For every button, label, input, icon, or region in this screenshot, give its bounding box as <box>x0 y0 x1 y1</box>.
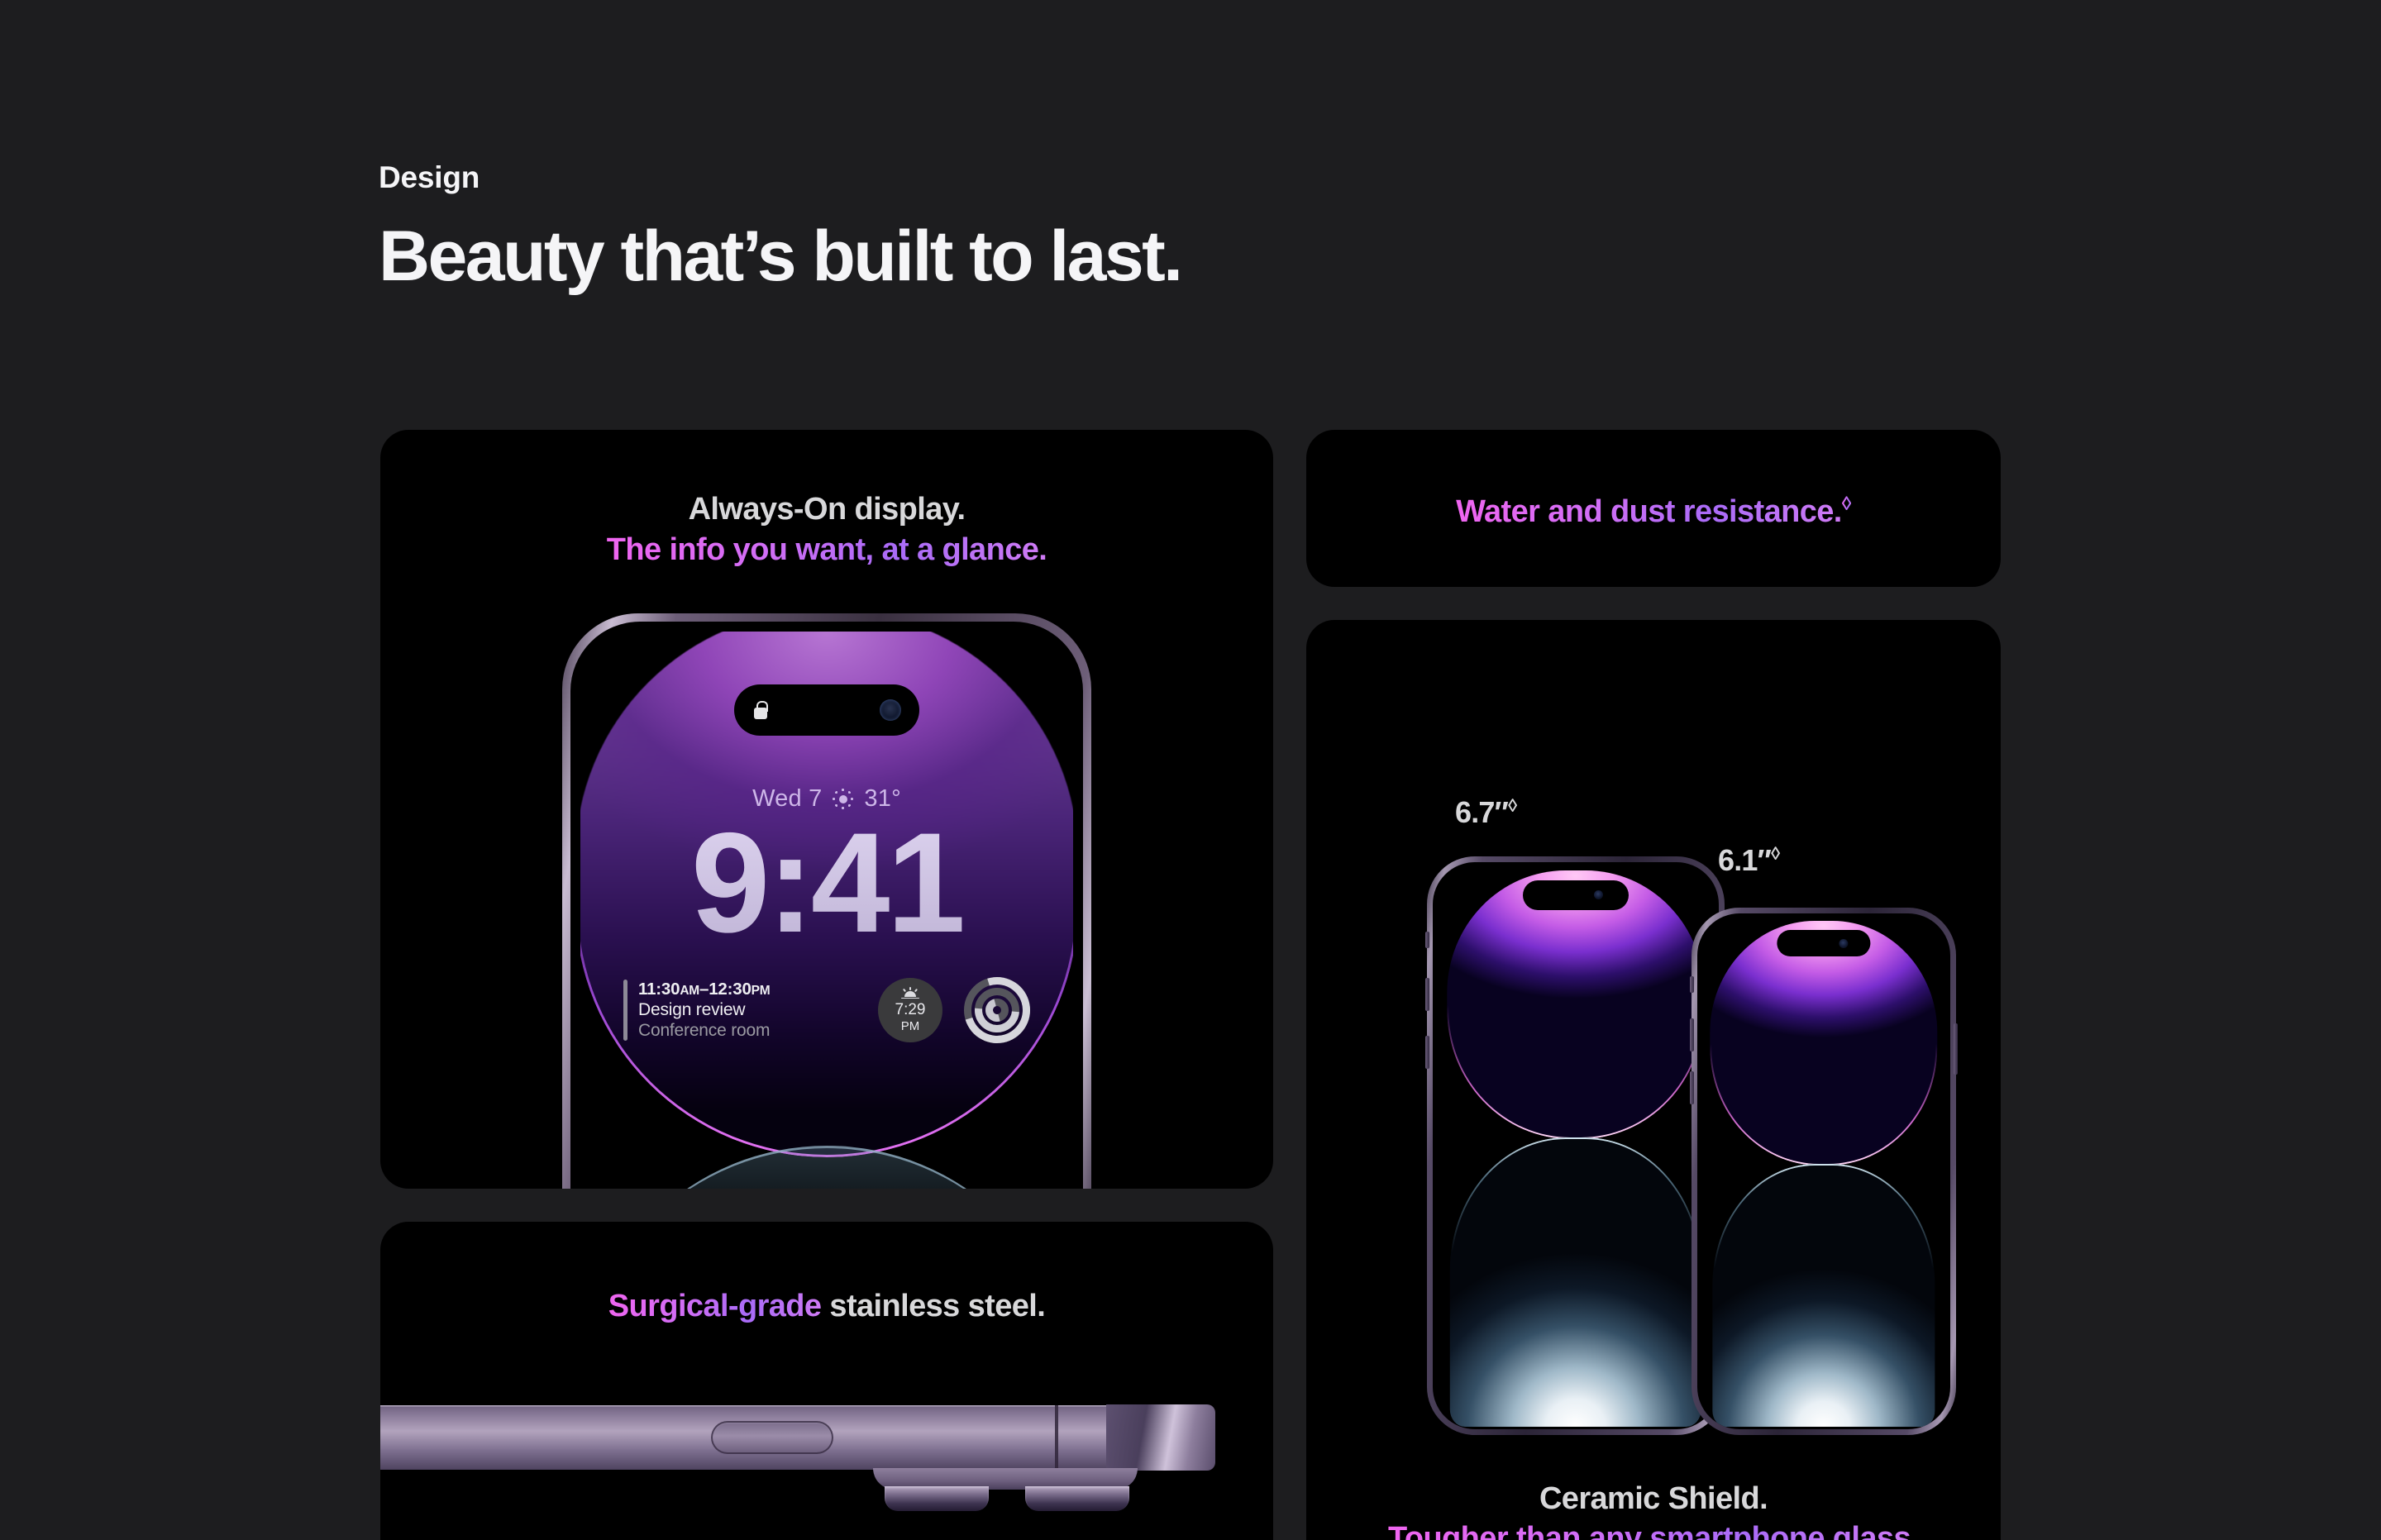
ceramic-shield-caption-line2: Tougher than any smartphone glass. <box>1388 1519 1919 1540</box>
iphone-67-inch-mockup <box>1427 856 1725 1435</box>
stainless-steel-caption: Surgical-grade stainless steel. <box>380 1286 1273 1327</box>
event-title: Design review <box>638 1000 771 1020</box>
band-end-cap <box>1106 1404 1215 1471</box>
phone-bezel: Wed 7 31° 9:41 11:30AM–12:30PM Design re… <box>570 622 1083 1189</box>
water-dust-caption-text: Water and dust resistance. <box>1456 492 1842 532</box>
wallpaper-reflection-rim <box>1712 1164 1935 1427</box>
activity-rings-icon[interactable] <box>964 977 1030 1043</box>
stainless-steel-caption-rest: stainless steel. <box>821 1289 1045 1323</box>
always-on-caption-line2: The info you want, at a glance. <box>607 530 1047 570</box>
footnote-marker: ◊ <box>1508 795 1516 816</box>
sunset-time: 7:29 <box>895 1002 926 1018</box>
camera-lens <box>1025 1486 1129 1511</box>
mute-switch <box>1425 932 1429 948</box>
event-time-start: 11:30 <box>638 980 680 999</box>
volume-down-button <box>1425 1036 1429 1069</box>
ceramic-shield-caption: Ceramic Shield. Tougher than any smartph… <box>1306 1479 2001 1540</box>
section-header: Design Beauty that’s built to last. <box>379 161 1181 293</box>
front-camera-icon <box>1839 939 1848 948</box>
wallpaper-dome-rim <box>1710 921 1937 1166</box>
page-title: Beauty that’s built to last. <box>379 220 1181 293</box>
always-on-caption: Always-On display. The info you want, at… <box>380 489 1273 570</box>
dynamic-island <box>1523 880 1629 910</box>
event-location: Conference room <box>638 1021 771 1041</box>
volume-button <box>711 1421 833 1454</box>
sunset-meridiem: PM <box>901 1019 920 1033</box>
lock-icon <box>752 700 769 720</box>
footnote-marker: ◊ <box>1842 491 1851 516</box>
event-time-dash: – <box>699 980 709 999</box>
event-time-end-meridiem: PM <box>752 984 771 998</box>
card-always-on-display[interactable]: Always-On display. The info you want, at… <box>380 430 1273 1189</box>
section-eyebrow: Design <box>379 161 1181 195</box>
size-label-large-value: 6.7″ <box>1455 795 1508 829</box>
dynamic-island[interactable] <box>734 684 919 736</box>
sunset-widget[interactable]: 7:29 PM <box>878 978 942 1042</box>
stainless-steel-caption-accent: Surgical-grade <box>608 1286 822 1327</box>
sunset-icon <box>900 987 920 1000</box>
iphone-side-profile-image <box>380 1405 1273 1538</box>
phone-screen <box>1697 913 1950 1429</box>
volume-down-button <box>1690 1071 1694 1104</box>
phone-screen <box>1433 862 1719 1429</box>
size-label-large: 6.7″◊ <box>1455 795 1516 830</box>
lockscreen-widgets: 11:30AM–12:30PM Design review Conference… <box>623 977 1030 1043</box>
antenna-line <box>1055 1405 1058 1470</box>
dynamic-island <box>1777 930 1870 956</box>
card-ceramic-shield[interactable]: 6.7″◊ 6.1″◊ <box>1306 620 2001 1540</box>
size-label-small-value: 6.1″ <box>1718 843 1771 877</box>
water-dust-caption: Water and dust resistance.◊ <box>1306 491 2001 532</box>
wallpaper-reflection-rim <box>1450 1137 1701 1427</box>
front-camera-icon <box>1594 890 1603 899</box>
camera-lens <box>885 1486 989 1511</box>
card-water-dust-resistance[interactable]: Water and dust resistance.◊ <box>1306 430 2001 587</box>
card-stainless-steel[interactable]: Surgical-grade stainless steel. <box>380 1222 1273 1540</box>
volume-up-button <box>1690 1018 1694 1051</box>
event-time-start-meridiem: AM <box>680 984 699 998</box>
mute-switch <box>1690 976 1694 993</box>
iphone-size-comparison: 6.7″◊ 6.1″◊ <box>1306 620 2001 1540</box>
event-time-end: 12:30 <box>709 980 751 999</box>
iphone-61-inch-mockup <box>1692 908 1956 1435</box>
event-time-range: 11:30AM–12:30PM <box>638 980 771 999</box>
ceramic-shield-caption-line1: Ceramic Shield. <box>1539 1481 1768 1516</box>
phone-screen: Wed 7 31° 9:41 11:30AM–12:30PM Design re… <box>580 632 1073 1189</box>
wallpaper-dome-rim <box>1447 870 1704 1139</box>
front-camera-icon <box>880 699 901 721</box>
always-on-caption-line1: Always-On display. <box>689 492 966 527</box>
iphone-lockscreen-mockup: Wed 7 31° 9:41 11:30AM–12:30PM Design re… <box>562 613 1091 1189</box>
footnote-marker: ◊ <box>1771 843 1779 864</box>
event-color-bar <box>623 980 627 1041</box>
size-label-small: 6.1″◊ <box>1718 843 1779 878</box>
power-button <box>1954 1023 1958 1075</box>
design-section-page: Design Beauty that’s built to last. Alwa… <box>0 0 2381 1540</box>
volume-up-button <box>1425 978 1429 1011</box>
wallpaper-reflection <box>580 1146 1073 1189</box>
calendar-event-widget[interactable]: 11:30AM–12:30PM Design review Conference… <box>623 980 856 1041</box>
lockscreen-clock: 9:41 <box>580 812 1073 954</box>
